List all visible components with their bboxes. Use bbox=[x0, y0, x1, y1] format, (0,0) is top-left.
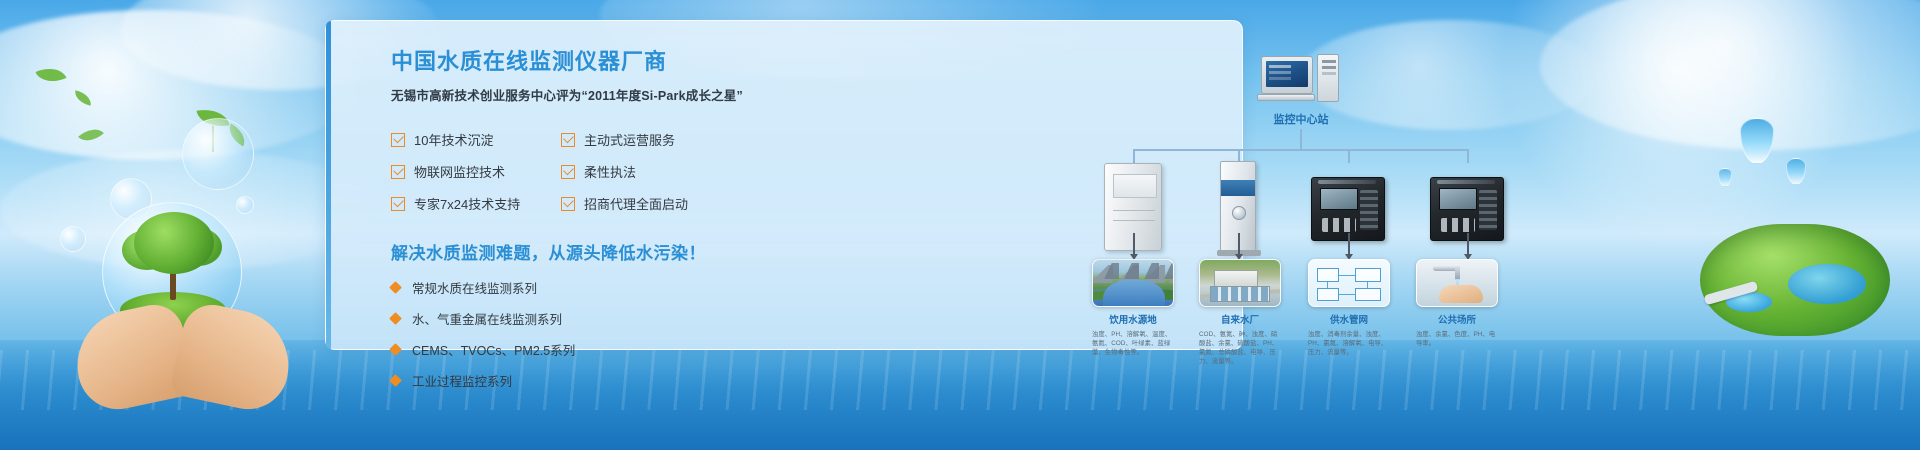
connector-line bbox=[1467, 149, 1469, 163]
online-analyzer-icon bbox=[1430, 177, 1504, 241]
page-title: 中国水质在线监测仪器厂商 bbox=[391, 49, 751, 75]
list-item: 工业过程监控系列 bbox=[391, 371, 751, 390]
scenario-description: 浊度、余氯、色度、PH、电导率。 bbox=[1416, 330, 1498, 348]
analyzer-top-bar bbox=[1437, 180, 1495, 184]
left-text-column: 中国水质在线监测仪器厂商 无锡市高新技术创业服务中心评为“2011年度Si-Pa… bbox=[391, 49, 751, 390]
checkbox-checked-icon bbox=[561, 165, 575, 179]
scenario-label: 饮用水源地 bbox=[1092, 312, 1174, 326]
scenario-label: 公共场所 bbox=[1416, 312, 1498, 326]
schematic-line bbox=[1327, 282, 1328, 288]
pc-tower-icon bbox=[1317, 54, 1339, 102]
checkbox-checked-icon bbox=[391, 165, 405, 179]
product-series-list: 常规水质在线监测系列 水、气重金属在线监测系列 CEMS、TVOCs、PM2.5… bbox=[391, 278, 751, 390]
column-knob bbox=[1232, 206, 1246, 220]
scenario-tile[interactable]: 饮用水源地 浊度、PH、溶解氧、温度、氨氮、COD、叶绿素、蓝绿藻、生物毒性等。 bbox=[1092, 259, 1174, 357]
down-arrow-icon bbox=[1238, 233, 1240, 255]
feature-item: 物联网监控技术 bbox=[391, 162, 551, 181]
public-place-photo bbox=[1416, 259, 1498, 307]
scenario-tile[interactable]: 自来水厂 COD、氨氮、砷、浊度、硝酸盐、余氯、硫酸盐、PH、氯氮、总磷酸盐、电… bbox=[1199, 259, 1281, 367]
diamond-bullet-icon bbox=[389, 375, 402, 388]
feature-item: 招商代理全面启动 bbox=[561, 194, 721, 213]
diamond-bullet-icon bbox=[389, 282, 402, 295]
schematic-line bbox=[1339, 275, 1355, 276]
system-architecture-diagram: 监控中心站 bbox=[1086, 51, 1506, 371]
connector-line bbox=[1300, 129, 1302, 149]
diamond-bullet-icon bbox=[389, 313, 402, 326]
feature-label: 招商代理全面启动 bbox=[584, 194, 688, 213]
checkbox-checked-icon bbox=[391, 133, 405, 147]
schematic-line bbox=[1367, 282, 1368, 288]
device-analyzer bbox=[1430, 177, 1504, 241]
schematic-box bbox=[1317, 288, 1339, 301]
hands-holding-tree-globe bbox=[78, 196, 288, 406]
analyzer-display bbox=[1439, 188, 1477, 210]
river-shape bbox=[1103, 280, 1165, 306]
feature-label: 专家7x24技术支持 bbox=[414, 194, 520, 213]
analyzer-side-vents bbox=[1479, 190, 1497, 230]
washing-hands-shape bbox=[1439, 285, 1483, 303]
treatment-tanks-shape bbox=[1210, 286, 1270, 302]
list-item-label: CEMS、TVOCs、PM2.5系列 bbox=[412, 340, 575, 359]
down-arrow-icon bbox=[1133, 233, 1135, 255]
online-analyzer-icon bbox=[1311, 177, 1385, 241]
list-item-label: 常规水质在线监测系列 bbox=[412, 278, 537, 297]
scenario-label: 自来水厂 bbox=[1199, 312, 1281, 326]
analyzer-display bbox=[1320, 188, 1358, 210]
monitor-icon bbox=[1261, 56, 1313, 94]
connector-line bbox=[1133, 149, 1467, 151]
scenario-description: COD、氨氮、砷、浊度、硝酸盐、余氯、硫酸盐、PH、氯氮、总磷酸盐、电导、压力、… bbox=[1199, 330, 1281, 367]
monitoring-center-computer-icon bbox=[1261, 56, 1339, 106]
water-plant-photo bbox=[1199, 259, 1281, 307]
center-station-label: 监控中心站 bbox=[1206, 111, 1396, 127]
list-item: 常规水质在线监测系列 bbox=[391, 278, 751, 297]
feature-item: 专家7x24技术支持 bbox=[391, 194, 551, 213]
schematic-box bbox=[1317, 268, 1339, 282]
page-subtitle: 无锡市高新技术创业服务中心评为“2011年度Si-Park成长之星” bbox=[391, 85, 751, 104]
feature-label: 10年技术沉淀 bbox=[414, 130, 493, 149]
analyzer-side-vents bbox=[1360, 190, 1378, 230]
scenario-label: 供水管网 bbox=[1308, 312, 1390, 326]
device-analyzer bbox=[1311, 177, 1385, 241]
analyzer-buttons bbox=[1322, 218, 1356, 232]
feature-label: 物联网监控技术 bbox=[414, 162, 505, 181]
scenario-description: 浊度、PH、溶解氧、温度、氨氮、COD、叶绿素、蓝绿藻、生物毒性等。 bbox=[1092, 330, 1174, 357]
checkbox-checked-icon bbox=[561, 197, 575, 211]
checkbox-checked-icon bbox=[561, 133, 575, 147]
list-item-label: 水、气重金属在线监测系列 bbox=[412, 309, 562, 328]
diamond-bullet-icon bbox=[389, 344, 402, 357]
panel-accent-bar bbox=[326, 21, 331, 349]
list-item: CEMS、TVOCs、PM2.5系列 bbox=[391, 340, 751, 359]
drinking-water-source-photo bbox=[1092, 259, 1174, 307]
keyboard-icon bbox=[1257, 94, 1315, 101]
connector-line bbox=[1133, 149, 1135, 163]
checkbox-checked-icon bbox=[391, 197, 405, 211]
feature-item: 10年技术沉淀 bbox=[391, 130, 551, 149]
connector-line bbox=[1348, 149, 1350, 163]
island-lake bbox=[1788, 264, 1866, 304]
feature-label: 主动式运营服务 bbox=[584, 130, 675, 149]
feature-item: 主动式运营服务 bbox=[561, 130, 721, 149]
feature-label: 柔性执法 bbox=[584, 162, 636, 181]
device-row bbox=[1086, 163, 1506, 261]
water-supply-network-photo bbox=[1308, 259, 1390, 307]
schematic-line bbox=[1339, 294, 1355, 295]
monitor-screen bbox=[1266, 61, 1308, 87]
feature-list: 10年技术沉淀 主动式运营服务 物联网监控技术 柔性执法 专家7x24技术支持 … bbox=[391, 130, 751, 213]
list-item-label: 工业过程监控系列 bbox=[412, 371, 512, 390]
hand-right-icon bbox=[169, 299, 299, 416]
section-subheading: 解决水质监测难题，从源头降低水污染！ bbox=[391, 239, 751, 264]
scenario-tile[interactable]: 供水管网 浊度、消毒剂余量、浊度、PH、氯氮、溶解氧、电导、压力、流量等。 bbox=[1308, 259, 1390, 357]
content-panel: 中国水质在线监测仪器厂商 无锡市高新技术创业服务中心评为“2011年度Si-Pa… bbox=[325, 20, 1243, 350]
mountain-shape bbox=[1099, 263, 1174, 279]
scenario-description: 浊度、消毒剂余量、浊度、PH、氯氮、溶解氧、电导、压力、流量等。 bbox=[1308, 330, 1390, 357]
schematic-box bbox=[1355, 268, 1381, 282]
list-item: 水、气重金属在线监测系列 bbox=[391, 309, 751, 328]
down-arrow-icon bbox=[1348, 233, 1350, 255]
schematic-box bbox=[1355, 288, 1381, 301]
application-scenarios: 饮用水源地 浊度、PH、溶解氧、温度、氨氮、COD、叶绿素、蓝绿藻、生物毒性等。… bbox=[1086, 259, 1506, 371]
feature-item: 柔性执法 bbox=[561, 162, 721, 181]
tree-foliage bbox=[134, 212, 214, 274]
green-island-illustration bbox=[1692, 214, 1902, 354]
faucet-spout bbox=[1455, 266, 1460, 280]
column-band bbox=[1221, 180, 1255, 196]
down-arrow-icon bbox=[1467, 233, 1469, 255]
bubble-icon bbox=[182, 118, 254, 190]
scenario-tile[interactable]: 公共场所 浊度、余氯、色度、PH、电导率。 bbox=[1416, 259, 1498, 348]
analyzer-top-bar bbox=[1318, 180, 1376, 184]
analyzer-buttons bbox=[1441, 218, 1475, 232]
